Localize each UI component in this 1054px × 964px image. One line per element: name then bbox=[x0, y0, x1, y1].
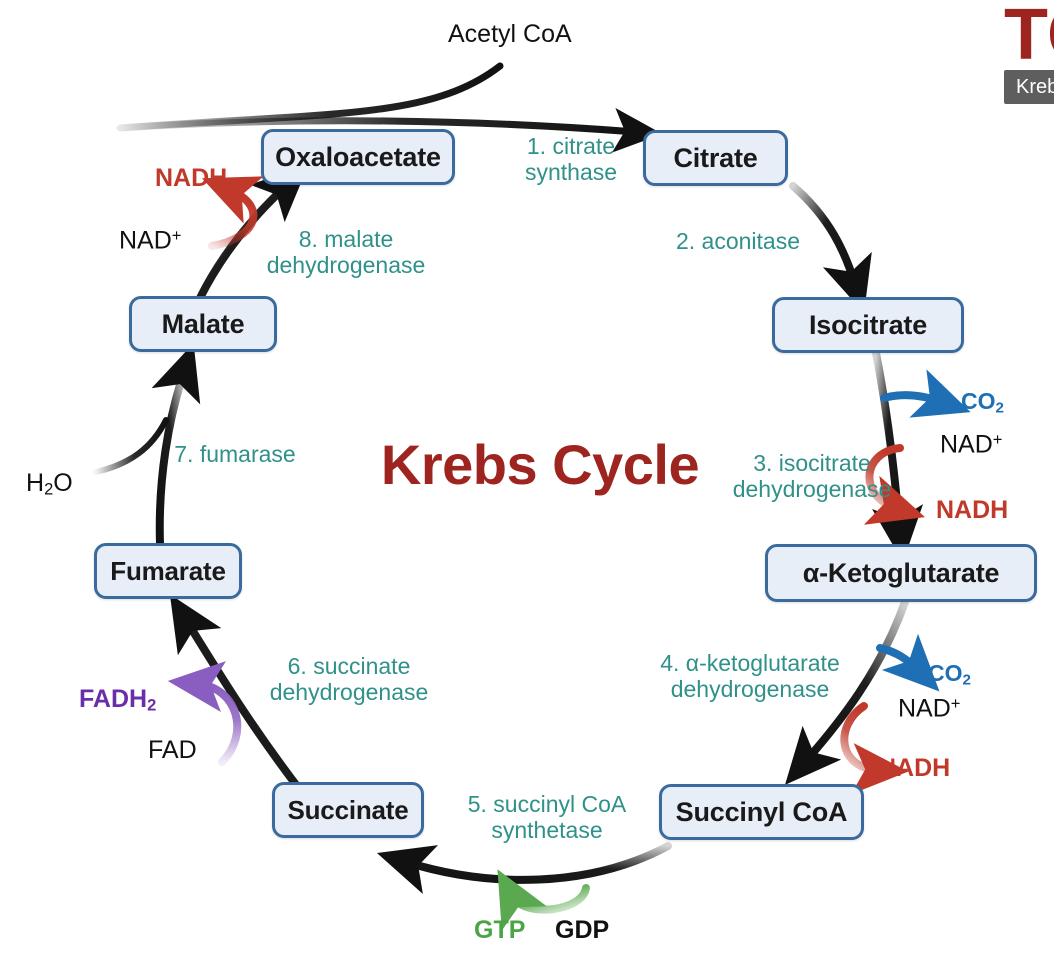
arrow-succinate-to-fumarate bbox=[186, 620, 300, 790]
arrow-co2-ketoglutarate bbox=[880, 648, 918, 670]
cofactor-nad-ketoglutarate: NAD+ bbox=[898, 696, 960, 721]
cofactor-fadh2-sub: 2 bbox=[147, 697, 156, 715]
cofactor-co2-isocitrate: CO2 bbox=[961, 390, 1004, 416]
cofactor-acetyl-coa: Acetyl CoA bbox=[448, 22, 572, 47]
metabolite-label: Succinyl CoA bbox=[676, 797, 848, 828]
enzyme-label-1-citrate-synthase[interactable]: 1. citrate synthase bbox=[496, 133, 646, 185]
metabolite-label: α-Ketoglutarate bbox=[803, 558, 1000, 589]
cofactor-nadh-ketoglutarate: NADH bbox=[878, 756, 950, 781]
cofactor-h2o-rest: O bbox=[53, 469, 72, 497]
cofactor-nadh-isocitrate: NADH bbox=[936, 498, 1008, 523]
enzyme-label-2-aconitase[interactable]: 2. aconitase bbox=[648, 228, 828, 254]
cofactor-nad-charge: + bbox=[951, 695, 961, 713]
metabolite-label: Fumarate bbox=[110, 556, 225, 587]
metabolite-succinate[interactable]: Succinate bbox=[272, 782, 424, 838]
cofactor-fadh2: FADH2 bbox=[79, 687, 156, 714]
cofactor-h2o-base: H bbox=[26, 469, 44, 497]
metabolite-label: Oxaloacetate bbox=[275, 142, 441, 173]
arrow-isocitrate-to-ketoglutarate bbox=[876, 353, 900, 532]
enzyme-label-4-ketoglutarate-dehydrogenase[interactable]: 4. α-ketoglutarate dehydrogenase bbox=[642, 650, 858, 702]
metabolite-label: Isocitrate bbox=[809, 310, 927, 341]
metabolite-label: Malate bbox=[162, 309, 245, 340]
cofactor-co2-base: CO bbox=[928, 660, 963, 686]
cofactor-nad-base: NAD bbox=[940, 430, 993, 458]
cofactor-gdp: GDP bbox=[555, 918, 609, 943]
cofactor-co2-sub: 2 bbox=[963, 671, 971, 688]
tooltip-badge: Krebs bbox=[1004, 70, 1054, 104]
enzyme-label-3-isocitrate-dehydrogenase[interactable]: 3. isocitrate dehydrogenase bbox=[714, 450, 910, 502]
cofactor-h2o: H2O bbox=[26, 471, 73, 498]
krebs-cycle-diagram: Oxaloacetate Citrate Isocitrate α-Ketogl… bbox=[0, 0, 1054, 964]
enzyme-label-6-succinate-dehydrogenase[interactable]: 6. succinate dehydrogenase bbox=[243, 653, 455, 705]
cofactor-nad-base: NAD bbox=[898, 694, 951, 722]
enzyme-label-5-succinyl-coa-synthetase[interactable]: 5. succinyl CoA synthetase bbox=[452, 791, 642, 843]
arrow-succinylcoa-to-succinate bbox=[406, 846, 668, 880]
metabolite-citrate[interactable]: Citrate bbox=[643, 130, 788, 186]
arrow-co2-isocitrate bbox=[884, 395, 942, 402]
metabolite-isocitrate[interactable]: Isocitrate bbox=[772, 297, 964, 353]
metabolite-succinyl-coa[interactable]: Succinyl CoA bbox=[659, 784, 864, 840]
metabolite-malate[interactable]: Malate bbox=[129, 296, 277, 352]
cofactor-co2-base: CO bbox=[961, 388, 996, 414]
cofactor-nadh-malate: NADH bbox=[155, 166, 227, 191]
metabolite-oxaloacetate[interactable]: Oxaloacetate bbox=[261, 129, 455, 185]
enzyme-label-7-fumarase[interactable]: 7. fumarase bbox=[160, 441, 310, 467]
cofactor-h2o-sub: 2 bbox=[44, 481, 53, 499]
metabolite-alpha-ketoglutarate[interactable]: α-Ketoglutarate bbox=[765, 544, 1037, 602]
cofactor-nad-isocitrate: NAD+ bbox=[940, 432, 1002, 457]
page-title: Krebs Cycle bbox=[360, 432, 720, 497]
arrow-gdp-to-gtp bbox=[512, 888, 586, 910]
metabolite-label: Succinate bbox=[287, 795, 408, 826]
cofactor-fadh2-base: FADH bbox=[79, 685, 147, 713]
cofactor-co2-ketoglutarate: CO2 bbox=[928, 662, 971, 688]
overflow-title: TC bbox=[1004, 0, 1054, 76]
cofactor-nad-base: NAD bbox=[119, 226, 172, 254]
cofactor-gtp: GTP bbox=[474, 918, 525, 943]
cofactor-fad: FAD bbox=[148, 738, 197, 763]
metabolite-label: Citrate bbox=[673, 143, 757, 174]
cofactor-co2-sub: 2 bbox=[996, 399, 1004, 416]
cofactor-nad-charge: + bbox=[993, 431, 1003, 449]
arrow-acetyl-coa bbox=[120, 66, 500, 128]
arrow-nad-to-nadh-ketoglutarate bbox=[844, 706, 878, 770]
cofactor-nad-malate: NAD+ bbox=[119, 228, 181, 253]
enzyme-label-8-malate-dehydrogenase[interactable]: 8. malate dehydrogenase bbox=[248, 226, 444, 278]
arrow-h2o-in bbox=[96, 420, 166, 472]
metabolite-fumarate[interactable]: Fumarate bbox=[94, 543, 242, 599]
cofactor-nad-charge: + bbox=[172, 227, 182, 245]
arrow-fad-to-fadh2 bbox=[198, 684, 237, 762]
